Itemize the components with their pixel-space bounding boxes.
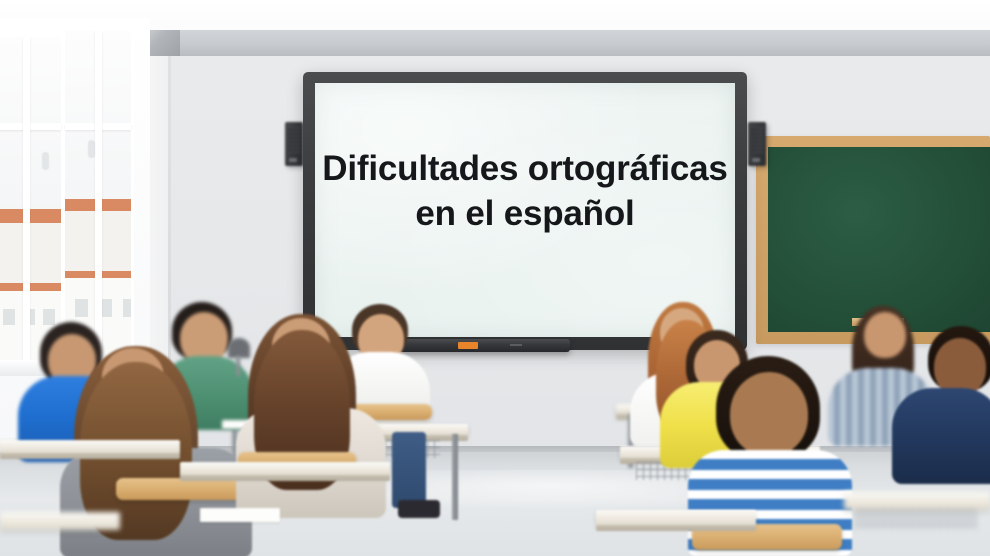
window-handle[interactable]	[43, 153, 48, 169]
window-right	[62, 28, 134, 370]
building-window	[123, 299, 131, 317]
whiteboard-title-line-2: en el español	[315, 192, 735, 237]
desk	[0, 440, 180, 454]
chalkboard-surface	[768, 147, 990, 332]
building-window	[3, 309, 15, 325]
whiteboard-screen[interactable]: Dificultades ortográficas en el español	[315, 83, 735, 337]
speaker-grill-icon	[288, 127, 300, 153]
desk-lamp-stem	[236, 356, 240, 376]
building-window	[43, 309, 55, 325]
speaker-logo	[752, 158, 760, 162]
desk-lamp-icon	[228, 338, 250, 358]
right-wall-speaker	[748, 122, 766, 166]
chair	[116, 478, 246, 500]
classroom-scene: Dificultades ortográficas en el español	[0, 0, 990, 556]
window-mullion	[23, 37, 30, 367]
student-shoe	[398, 500, 440, 518]
left-wall-speaker	[285, 122, 303, 166]
desk	[180, 462, 390, 476]
desk	[596, 510, 756, 526]
speaker-grill-icon	[751, 127, 763, 153]
window-view-left	[0, 37, 61, 367]
whiteboard-title: Dificultades ortográficas en el español	[315, 147, 735, 237]
window-handle[interactable]	[89, 141, 94, 157]
ceiling-beam	[120, 30, 990, 56]
desk	[0, 512, 120, 530]
building-window	[75, 299, 88, 317]
window-left	[0, 34, 64, 370]
tray-slot	[510, 344, 522, 346]
window-mullion	[95, 31, 102, 367]
desk-leg	[452, 434, 458, 520]
speaker-logo	[289, 158, 297, 162]
paper-sheet	[200, 508, 280, 522]
window-mullion	[0, 123, 61, 130]
whiteboard-title-line-1: Dificultades ortográficas	[315, 147, 735, 192]
student-jeans	[392, 432, 426, 508]
orange-marker-icon[interactable]	[458, 342, 478, 349]
desk	[844, 492, 990, 510]
desk-basket	[856, 510, 976, 530]
